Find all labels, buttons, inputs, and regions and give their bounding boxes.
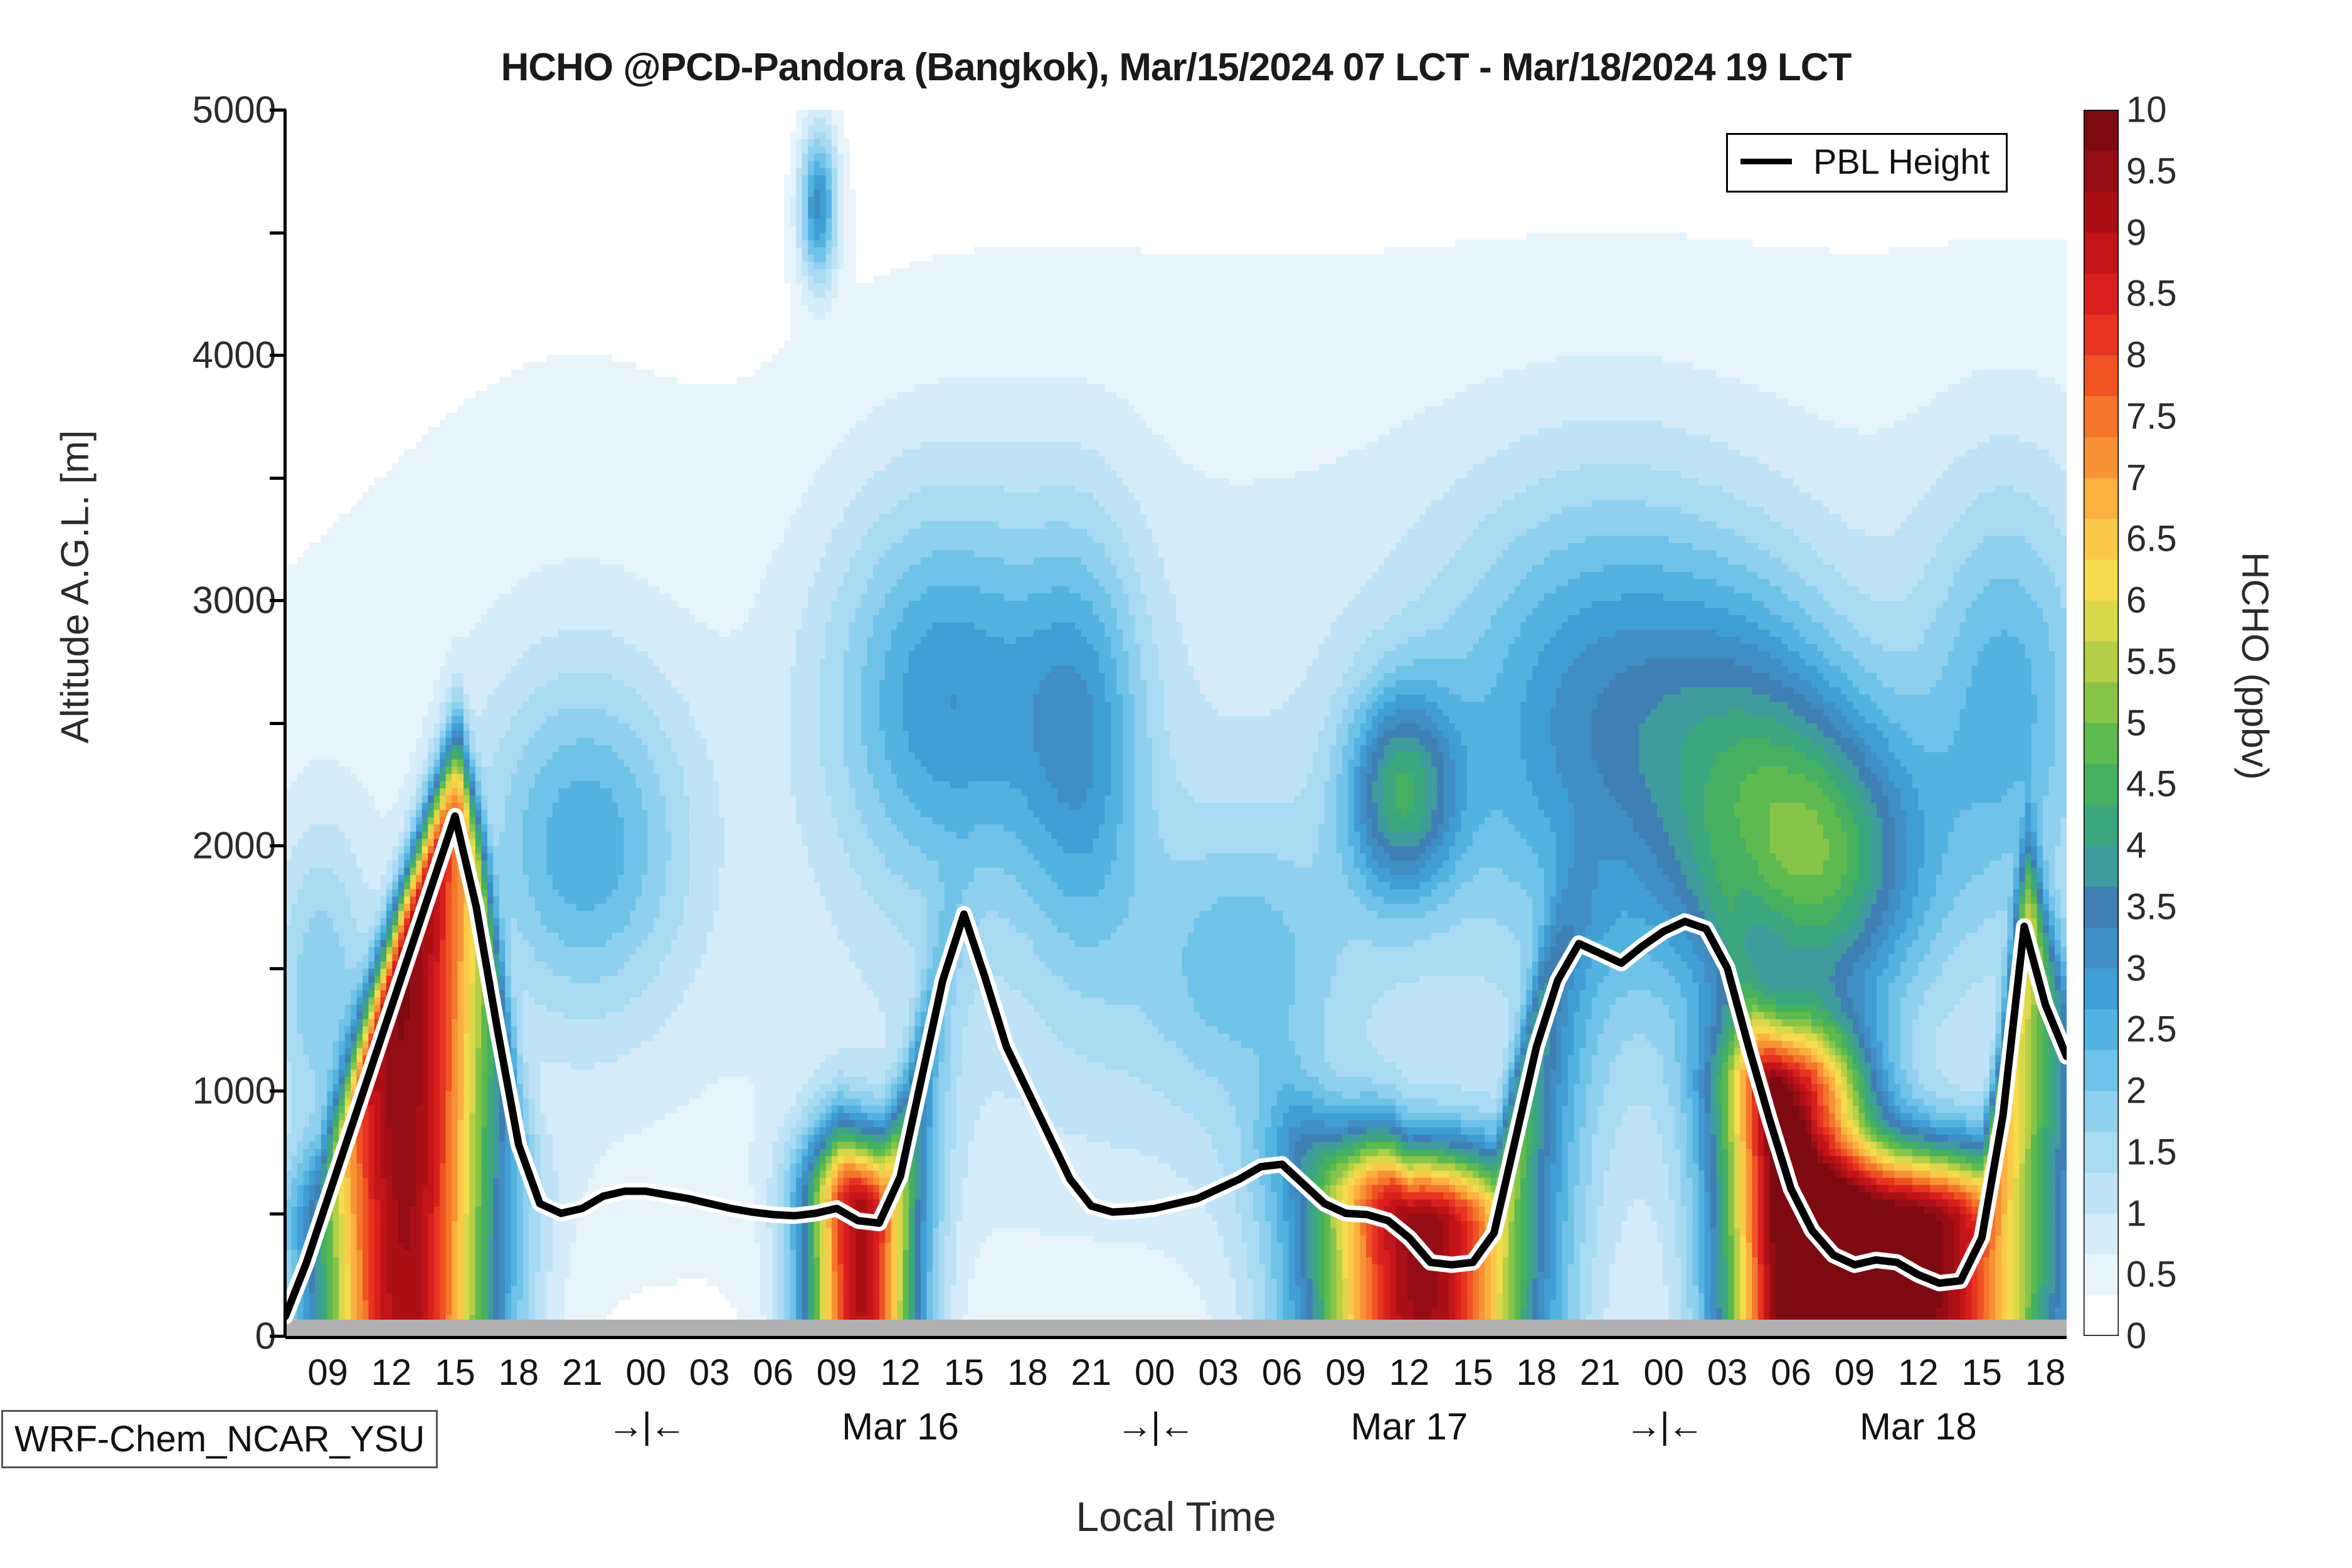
figure-canvas: HCHO @PCD-Pandora (Bangkok), Mar/15/2024…	[0, 0, 2352, 1568]
